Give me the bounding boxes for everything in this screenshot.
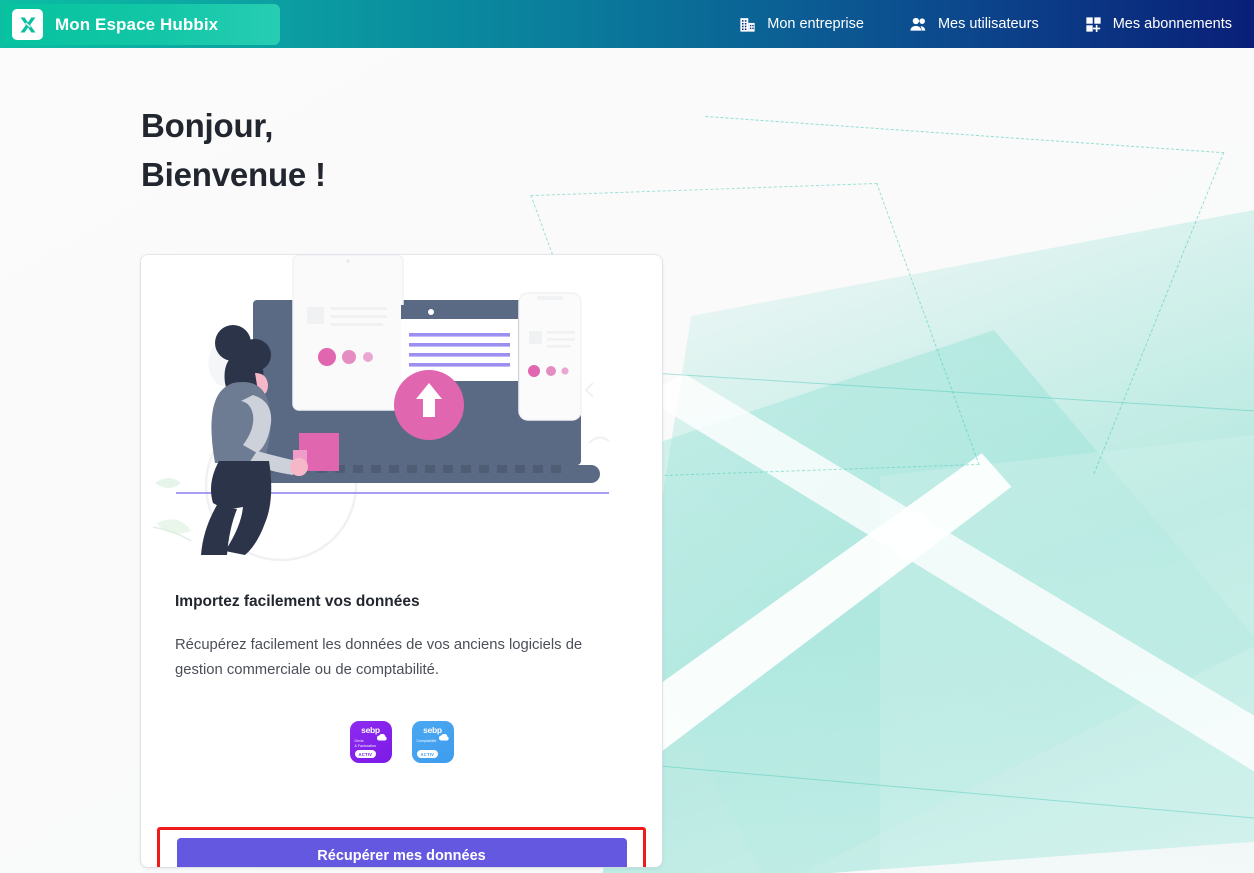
nav-item-label: Mon entreprise — [767, 16, 864, 32]
cloud-icon — [376, 728, 388, 735]
brand-title: Mon Espace Hubbix — [55, 15, 218, 35]
product-badge: ACTIV — [355, 750, 377, 758]
hubbix-x-logo-icon — [12, 9, 43, 40]
nav-item-mes-utilisateurs[interactable]: Mes utilisateurs — [886, 0, 1061, 48]
page-title: Bonjour, Bienvenue ! — [141, 101, 326, 199]
product-line-1: Devis — [355, 739, 364, 743]
card-body: Importez facilement vos données Récupére… — [141, 575, 662, 763]
card-title: Importez facilement vos données — [175, 593, 628, 611]
greeting-line-2: Bienvenue ! — [141, 150, 326, 199]
top-navigation-bar: Mon Espace Hubbix — [0, 0, 1254, 48]
app-root: Mon Espace Hubbix — [0, 0, 1254, 873]
card-description: Récupérez facilement les données de vos … — [175, 633, 628, 683]
product-line-2: & Facturation — [355, 744, 376, 748]
users-icon — [908, 14, 929, 35]
sebp-devis-facturation-activ-logo: sebp Devis & Facturation ACTIV — [350, 721, 392, 763]
main-content: Bonjour, Bienvenue ! — [0, 48, 1254, 873]
main-nav: Mon entreprise Mes utilisateurs — [715, 0, 1254, 48]
grid-plus-icon — [1083, 14, 1104, 35]
greeting-line-1: Bonjour, — [141, 101, 326, 150]
data-import-illustration — [141, 255, 662, 575]
nav-item-label: Mes abonnements — [1113, 16, 1232, 32]
product-line-1: Comptabilité — [417, 739, 437, 743]
product-logos: sebp Devis & Facturation ACTIV — [175, 721, 628, 763]
sebp-comptabilite-activ-logo: sebp Comptabilité ACTIV — [412, 721, 454, 763]
nav-item-mes-abonnements[interactable]: Mes abonnements — [1061, 0, 1254, 48]
nav-item-mon-entreprise[interactable]: Mon entreprise — [715, 0, 886, 48]
product-badge: ACTIV — [417, 750, 439, 758]
nav-item-label: Mes utilisateurs — [938, 16, 1039, 32]
import-data-card: Importez facilement vos données Récupére… — [141, 255, 662, 867]
recuperer-mes-donnees-button[interactable]: Récupérer mes données — [177, 838, 627, 867]
cloud-icon — [438, 728, 450, 735]
brand-home-button[interactable]: Mon Espace Hubbix — [4, 4, 280, 45]
cta-highlight-box: Récupérer mes données — [157, 827, 646, 867]
building-icon — [737, 14, 758, 35]
